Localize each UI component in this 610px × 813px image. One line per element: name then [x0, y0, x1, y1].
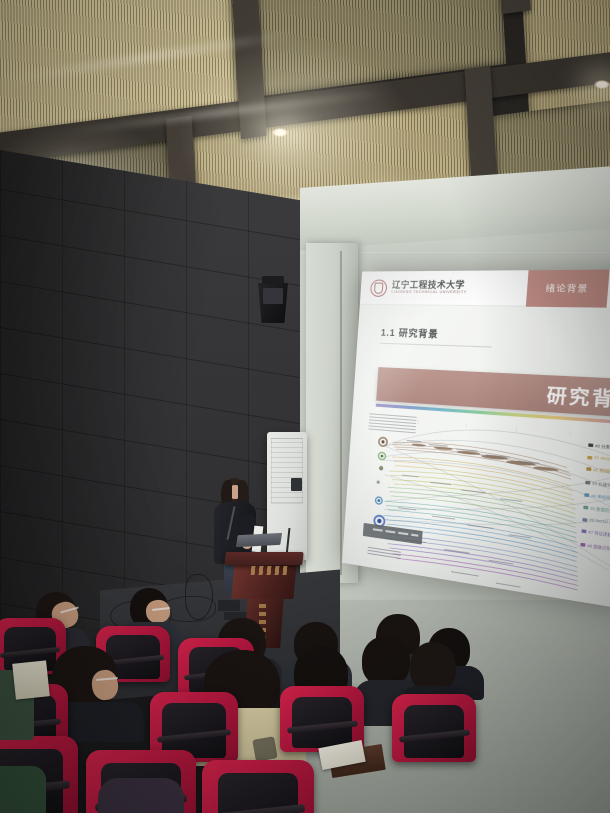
- auditorium-seat[interactable]: [392, 694, 476, 762]
- legend-label: #4 神经网络: [591, 492, 610, 500]
- audience-person: [0, 766, 46, 813]
- slide-banner-title: 研究背景: [546, 380, 610, 414]
- ac-control-panel: [291, 478, 302, 491]
- university-logo: 辽宁工程技术大学 LIAONING TECHNICAL UNIVERSITY: [360, 270, 529, 306]
- slide-section-rule: [380, 343, 491, 348]
- legend-label: #5 数据挖掘: [590, 505, 610, 513]
- person-torso: [0, 766, 46, 813]
- legend-item: #0 分类: [588, 442, 610, 452]
- university-name-en: LIAONING TECHNICAL UNIVERSITY: [391, 291, 466, 295]
- legend-label: #1 deep learning: [594, 455, 610, 463]
- audience-seating: [0, 588, 610, 813]
- legend-swatch: [587, 455, 592, 459]
- paper-handout-icon[interactable]: [12, 660, 50, 699]
- projection-screen: 辽宁工程技术大学 LIAONING TECHNICAL UNIVERSITY 绪…: [342, 269, 610, 609]
- legend-swatch: [582, 518, 587, 522]
- legend-item: #5 数据挖掘: [583, 504, 610, 515]
- legend-swatch: [584, 493, 589, 497]
- legend-swatch: [588, 443, 593, 447]
- legend-swatch: [586, 468, 591, 472]
- lecture-hall-photo: 辽宁工程技术大学 LIAONING TECHNICAL UNIVERSITY 绪…: [0, 0, 610, 813]
- slide-tab-active[interactable]: 绪论背景: [526, 270, 610, 308]
- laptop-icon: [236, 533, 282, 547]
- legend-label: #2 预测模型: [593, 467, 610, 475]
- legend-item: #4 神经网络: [584, 492, 610, 503]
- lectern-top: [224, 552, 303, 565]
- recessed-downlight-icon: [272, 128, 288, 137]
- legend-swatch: [583, 505, 588, 509]
- legend-swatch: [585, 480, 590, 484]
- slide-navigation-bar: 辽宁工程技术大学 LIAONING TECHNICAL UNIVERSITY 绪…: [360, 269, 610, 308]
- person-head: [362, 636, 410, 686]
- legend-label: #7 特征提取: [588, 529, 610, 538]
- person-head: [410, 642, 456, 692]
- legend-item: #2 预测模型: [586, 466, 610, 476]
- lectern-top-inscription: [251, 566, 288, 575]
- ac-grille: [271, 438, 303, 504]
- speaker-mount: [262, 276, 284, 284]
- legend-label: #3 机器学习: [592, 480, 610, 488]
- legend-swatch: [581, 530, 586, 534]
- legend-label: #0 分类: [595, 443, 610, 450]
- slide-section-number: 1.1 研究背景: [380, 325, 438, 340]
- legend-item: #1 deep learning: [587, 455, 610, 464]
- legend-item: #6 fractal dimension: [582, 517, 610, 527]
- university-name-cn: 辽宁工程技术大学: [392, 281, 468, 290]
- wall-speaker-icon: [258, 283, 288, 323]
- presentation-slide: 辽宁工程技术大学 LIAONING TECHNICAL UNIVERSITY 绪…: [342, 269, 610, 609]
- legend-item: #3 机器学习: [585, 479, 610, 490]
- audience-person: [98, 778, 184, 813]
- university-seal-icon: [370, 279, 388, 296]
- recessed-downlight-icon: [594, 80, 610, 89]
- legend-swatch: [580, 542, 585, 546]
- legend-item: #7 特征提取: [581, 528, 610, 540]
- legend-label: #6 fractal dimension: [589, 518, 610, 527]
- person-torso: [98, 778, 184, 813]
- hoodie-print: [252, 736, 277, 761]
- auditorium-seat[interactable]: [202, 760, 314, 813]
